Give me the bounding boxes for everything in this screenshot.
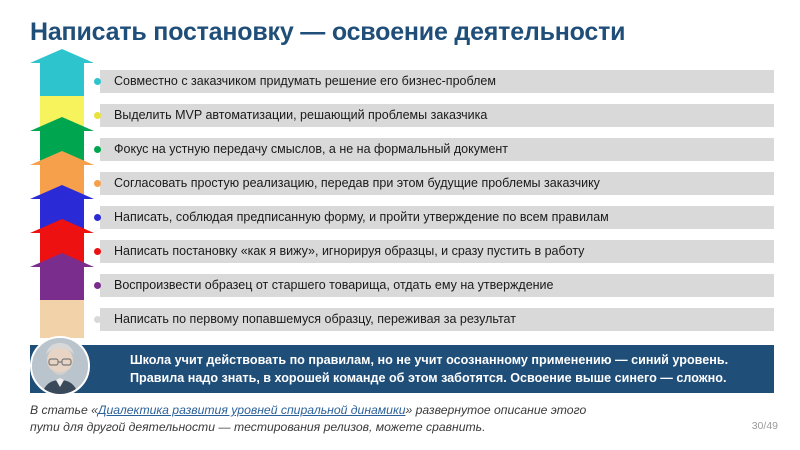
arrow-body xyxy=(40,300,84,338)
callout-line-1: Школа учит действовать по правилам, но н… xyxy=(130,351,766,369)
list-item-label: Совместно с заказчиком придумать решение… xyxy=(100,70,496,93)
footnote-link[interactable]: Диалектика развития уровней спиральной д… xyxy=(98,403,406,417)
level-bullet xyxy=(94,112,101,119)
arrow-head-icon xyxy=(30,151,94,165)
footnote-line-2: пути для другой деятельности — тестирова… xyxy=(30,420,485,434)
list-item-label: Написать, соблюдая предписанную форму, и… xyxy=(100,206,609,229)
level-arrow-column xyxy=(30,62,94,338)
arrow-segment xyxy=(30,266,94,300)
list-item[interactable]: Написать по первому попавшемуся образцу,… xyxy=(100,308,774,331)
level-bullet xyxy=(94,248,101,255)
footnote: В статье «Диалектика развития уровней сп… xyxy=(30,402,650,436)
arrow-body xyxy=(40,266,84,300)
arrow-head-icon xyxy=(30,49,94,63)
callout-banner: Школа учит действовать по правилам, но н… xyxy=(30,345,774,393)
page-title: Написать постановку — освоение деятельно… xyxy=(30,18,625,47)
list-item-label: Выделить MVP автоматизации, решающий про… xyxy=(100,104,487,127)
page-number: 30/49 xyxy=(752,420,778,432)
list-item-label: Написать по первому попавшемуся образцу,… xyxy=(100,308,516,331)
callout-text: Школа учит действовать по правилам, но н… xyxy=(130,351,766,387)
arrow-head-icon xyxy=(30,117,94,131)
arrow-body xyxy=(40,62,84,96)
level-bullet xyxy=(94,78,101,85)
speaker-photo-icon xyxy=(32,338,88,394)
list-item[interactable]: Фокус на устную передачу смыслов, а не н… xyxy=(100,138,774,161)
arrow-head-icon xyxy=(30,219,94,233)
level-bullet xyxy=(94,316,101,323)
arrow-segment xyxy=(30,300,94,338)
avatar xyxy=(30,336,90,396)
arrow-head-icon xyxy=(30,185,94,199)
level-bullet xyxy=(94,214,101,221)
level-bullet xyxy=(94,146,101,153)
level-bullet xyxy=(94,282,101,289)
list-item[interactable]: Согласовать простую реализацию, передав … xyxy=(100,172,774,195)
list-item-label: Фокус на устную передачу смыслов, а не н… xyxy=(100,138,508,161)
list-item-label: Написать постановку «как я вижу», игнори… xyxy=(100,240,584,263)
list-item[interactable]: Написать, соблюдая предписанную форму, и… xyxy=(100,206,774,229)
level-list: Совместно с заказчиком придумать решение… xyxy=(100,70,774,342)
list-item[interactable]: Выделить MVP автоматизации, решающий про… xyxy=(100,104,774,127)
callout-line-2: Правила надо знать, в хорошей команде об… xyxy=(130,369,766,387)
arrow-segment xyxy=(30,62,94,96)
list-item-label: Согласовать простую реализацию, передав … xyxy=(100,172,600,195)
list-item[interactable]: Воспроизвести образец от старшего товари… xyxy=(100,274,774,297)
list-item[interactable]: Написать постановку «как я вижу», игнори… xyxy=(100,240,774,263)
arrow-head-icon xyxy=(30,253,94,267)
level-bullet xyxy=(94,180,101,187)
list-item[interactable]: Совместно с заказчиком придумать решение… xyxy=(100,70,774,93)
footnote-prefix: В статье « xyxy=(30,403,98,417)
footnote-suffix: » развернутое описание этого xyxy=(405,403,586,417)
list-item-label: Воспроизвести образец от старшего товари… xyxy=(100,274,554,297)
slide: Написать постановку — освоение деятельно… xyxy=(0,0,800,450)
